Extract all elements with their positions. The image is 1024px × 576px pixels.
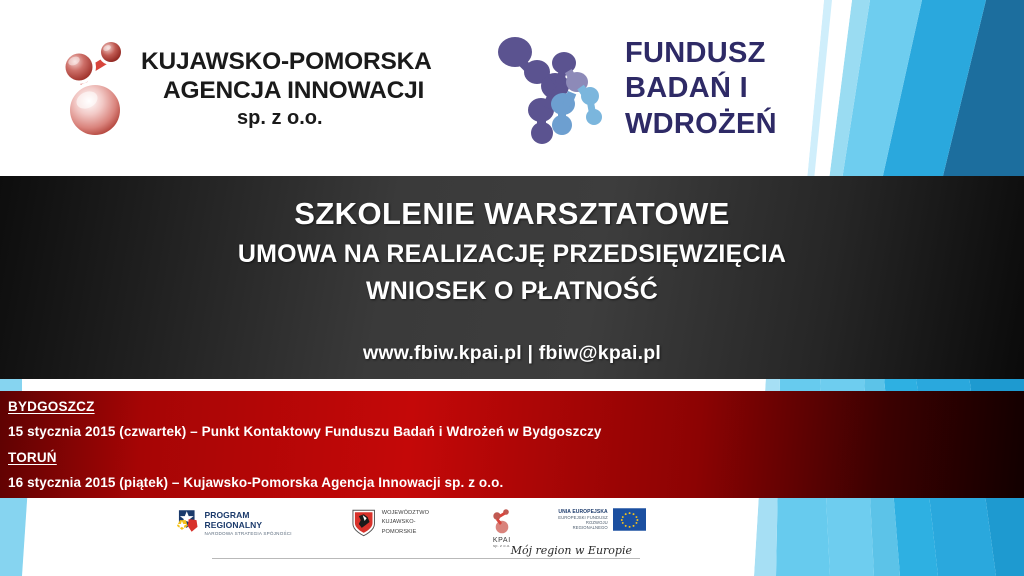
fbiw-molecule-icon: [495, 30, 607, 148]
title-subtitle-2: WNIOSEK O PŁATNOŚĆ: [0, 277, 1024, 306]
kpai-footer-subtitle: sp. z o.o.: [491, 544, 513, 548]
fbiw-logo-line1: FUNDUSZ: [625, 36, 777, 71]
kpai-bubbles-small-icon: [491, 508, 513, 536]
footer-divider: [212, 558, 640, 559]
kpai-footer-logo: KPAI sp. z o.o.: [491, 508, 513, 548]
event-city-bydgoszcz: BYDGOSZCZ: [8, 399, 1024, 414]
unia-line3: ROZWOJU REGIONALNEGO: [551, 520, 608, 530]
eu-flag-icon: [613, 508, 646, 531]
program-regionalny-stars-icon: [176, 508, 199, 538]
kujawsko-pomorskie-coat-of-arms-icon: [351, 508, 376, 538]
kpai-logo-line1: KUJAWSKO-POMORSKA: [141, 50, 432, 75]
event-city-torun: TORUŃ: [8, 450, 1024, 465]
page-title: SZKOLENIE WARSZTATOWE: [0, 196, 1024, 232]
event-detail-torun: 16 stycznia 2015 (piątek) – Kujawsko-Pom…: [8, 475, 1024, 490]
kpai-footer-title: KPAI: [491, 537, 513, 544]
title-subtitle-1: UMOWA NA REALIZACJĘ PRZEDSIĘWZIĘCIA: [0, 240, 1024, 269]
header-logo-strip: KUJAWSKO-POMORSKA AGENCJA INNOWACJI sp. …: [0, 0, 1024, 176]
fbiw-logo-line3: WDROŻEŃ: [625, 107, 777, 142]
presentation-slide: KUJAWSKO-POMORSKA AGENCJA INNOWACJI sp. …: [0, 0, 1024, 576]
wojewodztwo-logo: WOJEWÓDZTWO KUJAWSKO-POMORSKIE: [351, 508, 449, 538]
program-regionalny-subtitle: NARODOWA STRATEGIA SPÓJNOŚCI: [204, 531, 307, 536]
program-regionalny-title: PROGRAM REGIONALNY: [204, 510, 307, 530]
program-regionalny-logo: PROGRAM REGIONALNY NARODOWA STRATEGIA SP…: [176, 508, 307, 538]
kpai-bubbles-icon: [58, 34, 132, 144]
kpai-logo-line3: sp. z o.o.: [237, 108, 432, 128]
wojewodztwo-line2: KUJAWSKO-POMORSKIE: [382, 518, 449, 537]
contact-line[interactable]: www.fbiw.kpai.pl | fbiw@kpai.pl: [0, 342, 1024, 365]
unia-europejska-logo: UNIA EUROPEJSKA EUROPEJSKI FUNDUSZ ROZWO…: [551, 508, 646, 531]
fbiw-logo: FUNDUSZ BADAŃ I WDROŻEŃ: [495, 30, 777, 148]
footer-slogan: Mój region w Europie: [511, 544, 632, 557]
events-band: BYDGOSZCZ 15 stycznia 2015 (czwartek) – …: [0, 391, 1024, 498]
event-detail-bydgoszcz: 15 stycznia 2015 (czwartek) – Punkt Kont…: [8, 424, 1024, 439]
fbiw-logo-line2: BADAŃ I: [625, 71, 777, 106]
kpai-logo-line2: AGENCJA INNOWACJI: [163, 79, 432, 104]
wojewodztwo-line1: WOJEWÓDZTWO: [382, 509, 449, 519]
footer-logo-strip: PROGRAM REGIONALNY NARODOWA STRATEGIA SP…: [0, 498, 1024, 576]
title-band: SZKOLENIE WARSZTATOWE UMOWA NA REALIZACJ…: [0, 176, 1024, 379]
kpai-logo: KUJAWSKO-POMORSKA AGENCJA INNOWACJI sp. …: [58, 34, 432, 144]
